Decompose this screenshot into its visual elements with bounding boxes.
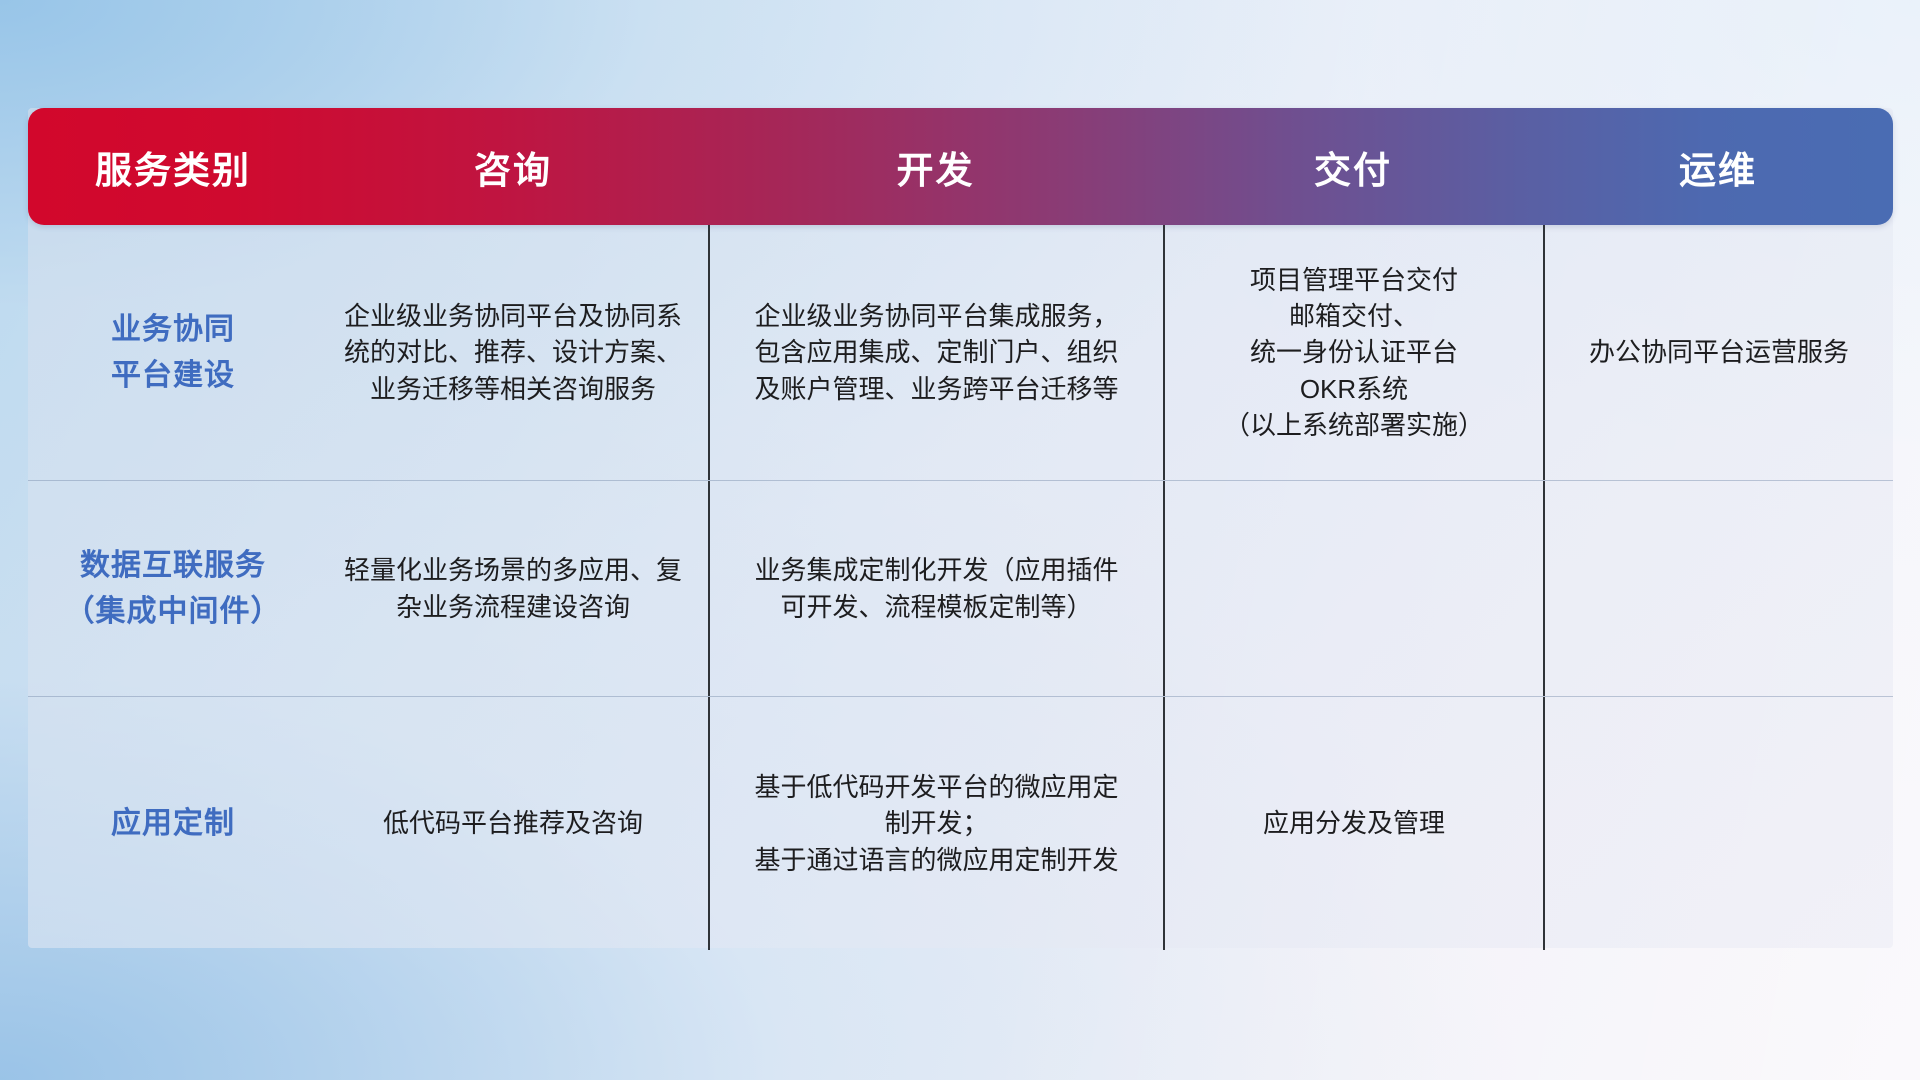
cell-consulting: 轻量化业务场景的多应用、复 杂业务流程建设咨询: [318, 481, 708, 696]
header-cell-service-category: 服务类别: [28, 108, 318, 225]
cell-operations: 办公协同平台运营服务: [1543, 225, 1893, 480]
header-cell-operations: 运维: [1543, 108, 1893, 225]
cell-delivery: [1163, 481, 1543, 696]
cell-development: 业务集成定制化开发（应用插件 可开发、流程模板定制等）: [708, 481, 1163, 696]
cell-operations: [1543, 481, 1893, 696]
cell-development: 基于低代码开发平台的微应用定 制开发； 基于通过语言的微应用定制开发: [708, 697, 1163, 950]
table-body: 业务协同 平台建设 企业级业务协同平台及协同系 统的对比、推荐、设计方案、 业务…: [28, 225, 1893, 948]
header-cell-consulting: 咨询: [318, 108, 708, 225]
header-cell-delivery: 交付: [1163, 108, 1543, 225]
row-category-label: 应用定制: [28, 697, 318, 950]
table-row: 业务协同 平台建设 企业级业务协同平台及协同系 统的对比、推荐、设计方案、 业务…: [28, 225, 1893, 480]
cell-delivery: 项目管理平台交付 邮箱交付、 统一身份认证平台 OKR系统 （以上系统部署实施）: [1163, 225, 1543, 480]
cell-consulting: 企业级业务协同平台及协同系 统的对比、推荐、设计方案、 业务迁移等相关咨询服务: [318, 225, 708, 480]
table-header-row: 服务类别 咨询 开发 交付 运维: [28, 108, 1893, 225]
cell-consulting: 低代码平台推荐及咨询: [318, 697, 708, 950]
header-cell-development: 开发: [708, 108, 1163, 225]
row-category-label: 业务协同 平台建设: [28, 225, 318, 480]
table-row: 数据互联服务 （集成中间件） 轻量化业务场景的多应用、复 杂业务流程建设咨询 业…: [28, 480, 1893, 696]
cell-operations: [1543, 697, 1893, 950]
table-row: 应用定制 低代码平台推荐及咨询 基于低代码开发平台的微应用定 制开发； 基于通过…: [28, 696, 1893, 950]
cell-delivery: 应用分发及管理: [1163, 697, 1543, 950]
service-matrix-table: 服务类别 咨询 开发 交付 运维 业务协同 平台建设 企业级业务协同平台及协同系…: [28, 108, 1893, 948]
row-category-label: 数据互联服务 （集成中间件）: [28, 481, 318, 696]
cell-development: 企业级业务协同平台集成服务， 包含应用集成、定制门户、组织 及账户管理、业务跨平…: [708, 225, 1163, 480]
